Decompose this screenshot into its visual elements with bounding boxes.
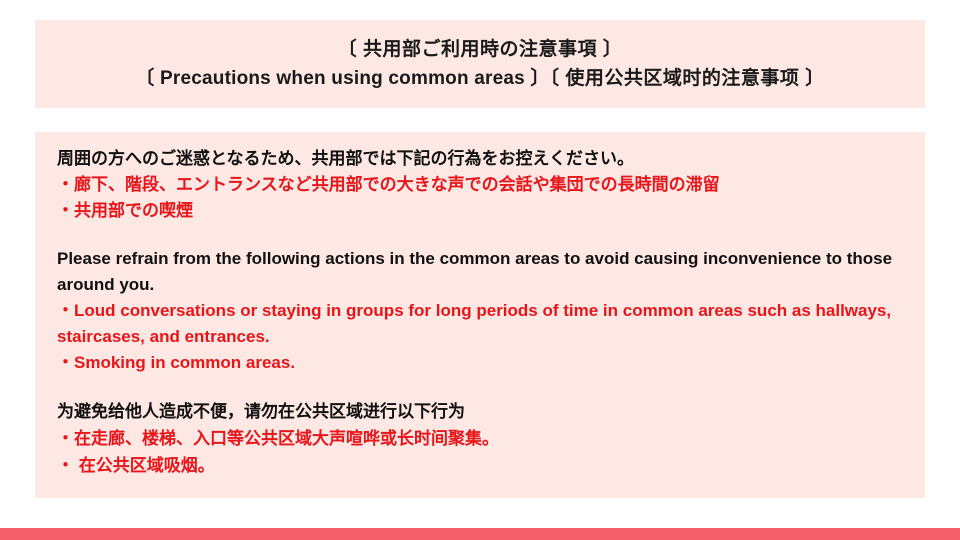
chinese-lead-text: 为避免给他人造成不便，请勿在公共区域进行以下行为 xyxy=(57,398,903,425)
english-bullet-1: ・Loud conversations or staying in groups… xyxy=(57,298,903,350)
header-notice-panel: 〔 共用部ご利用時の注意事項 〕 〔 Precautions when usin… xyxy=(35,20,925,108)
japanese-bullet-2: ・共用部での喫煙 xyxy=(57,198,903,224)
chinese-bullet-2: ・ 在公共区域吸烟。 xyxy=(57,452,903,479)
japanese-bullet-1: ・廊下、階段、エントランスなど共用部での大きな声での会話や集団での長時間の滞留 xyxy=(57,172,903,198)
chinese-bullet-1: ・在走廊、楼梯、入口等公共区域大声喧哗或长时间聚集。 xyxy=(57,425,903,452)
english-section: Please refrain from the following action… xyxy=(57,246,903,376)
japanese-section: 周囲の方へのご迷惑となるため、共用部では下記の行為をお控えください。 ・廊下、階… xyxy=(57,146,903,224)
bottom-accent-bar xyxy=(0,528,960,540)
english-bullet-2: ・Smoking in common areas. xyxy=(57,350,903,376)
body-notice-panel: 周囲の方へのご迷惑となるため、共用部では下記の行為をお控えください。 ・廊下、階… xyxy=(35,132,925,498)
japanese-lead-text: 周囲の方へのご迷惑となるため、共用部では下記の行為をお控えください。 xyxy=(57,146,903,172)
page-title-en-zh-row: 〔 Precautions when using common areas 〕〔… xyxy=(135,66,824,92)
section-spacer-japanese-english xyxy=(57,224,903,246)
page-title-english: 〔 Precautions when using common areas 〕 xyxy=(135,68,549,89)
page-title-chinese: 〔 使用公共区域时的注意事项 〕 xyxy=(550,68,825,89)
page-title-japanese: 〔 共用部ご利用時の注意事項 〕 xyxy=(338,37,623,63)
section-spacer-english-chinese xyxy=(57,376,903,398)
chinese-section: 为避免给他人造成不便，请勿在公共区域进行以下行为 ・在走廊、楼梯、入口等公共区域… xyxy=(57,398,903,479)
english-lead-text: Please refrain from the following action… xyxy=(57,246,903,298)
